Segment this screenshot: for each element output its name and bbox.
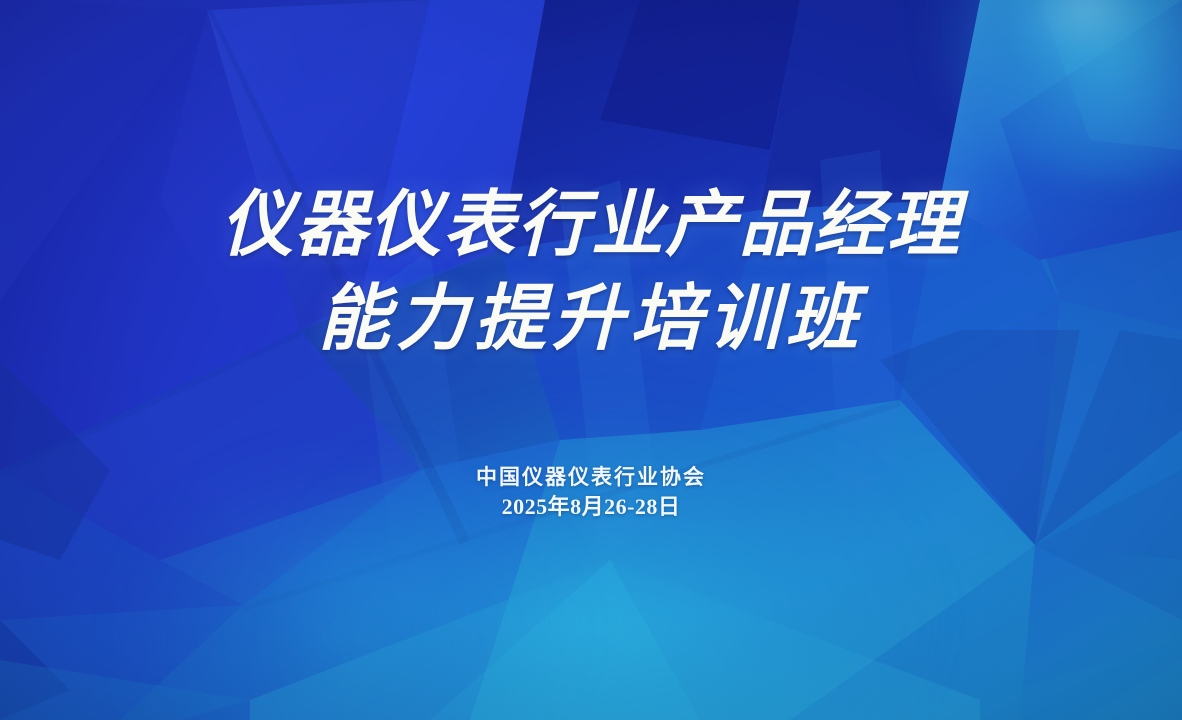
title-slide: 仪器仪表行业产品经理 能力提升培训班 中国仪器仪表行业协会 2025年8月26-… [0,0,1182,720]
polygon-background [0,0,1182,720]
